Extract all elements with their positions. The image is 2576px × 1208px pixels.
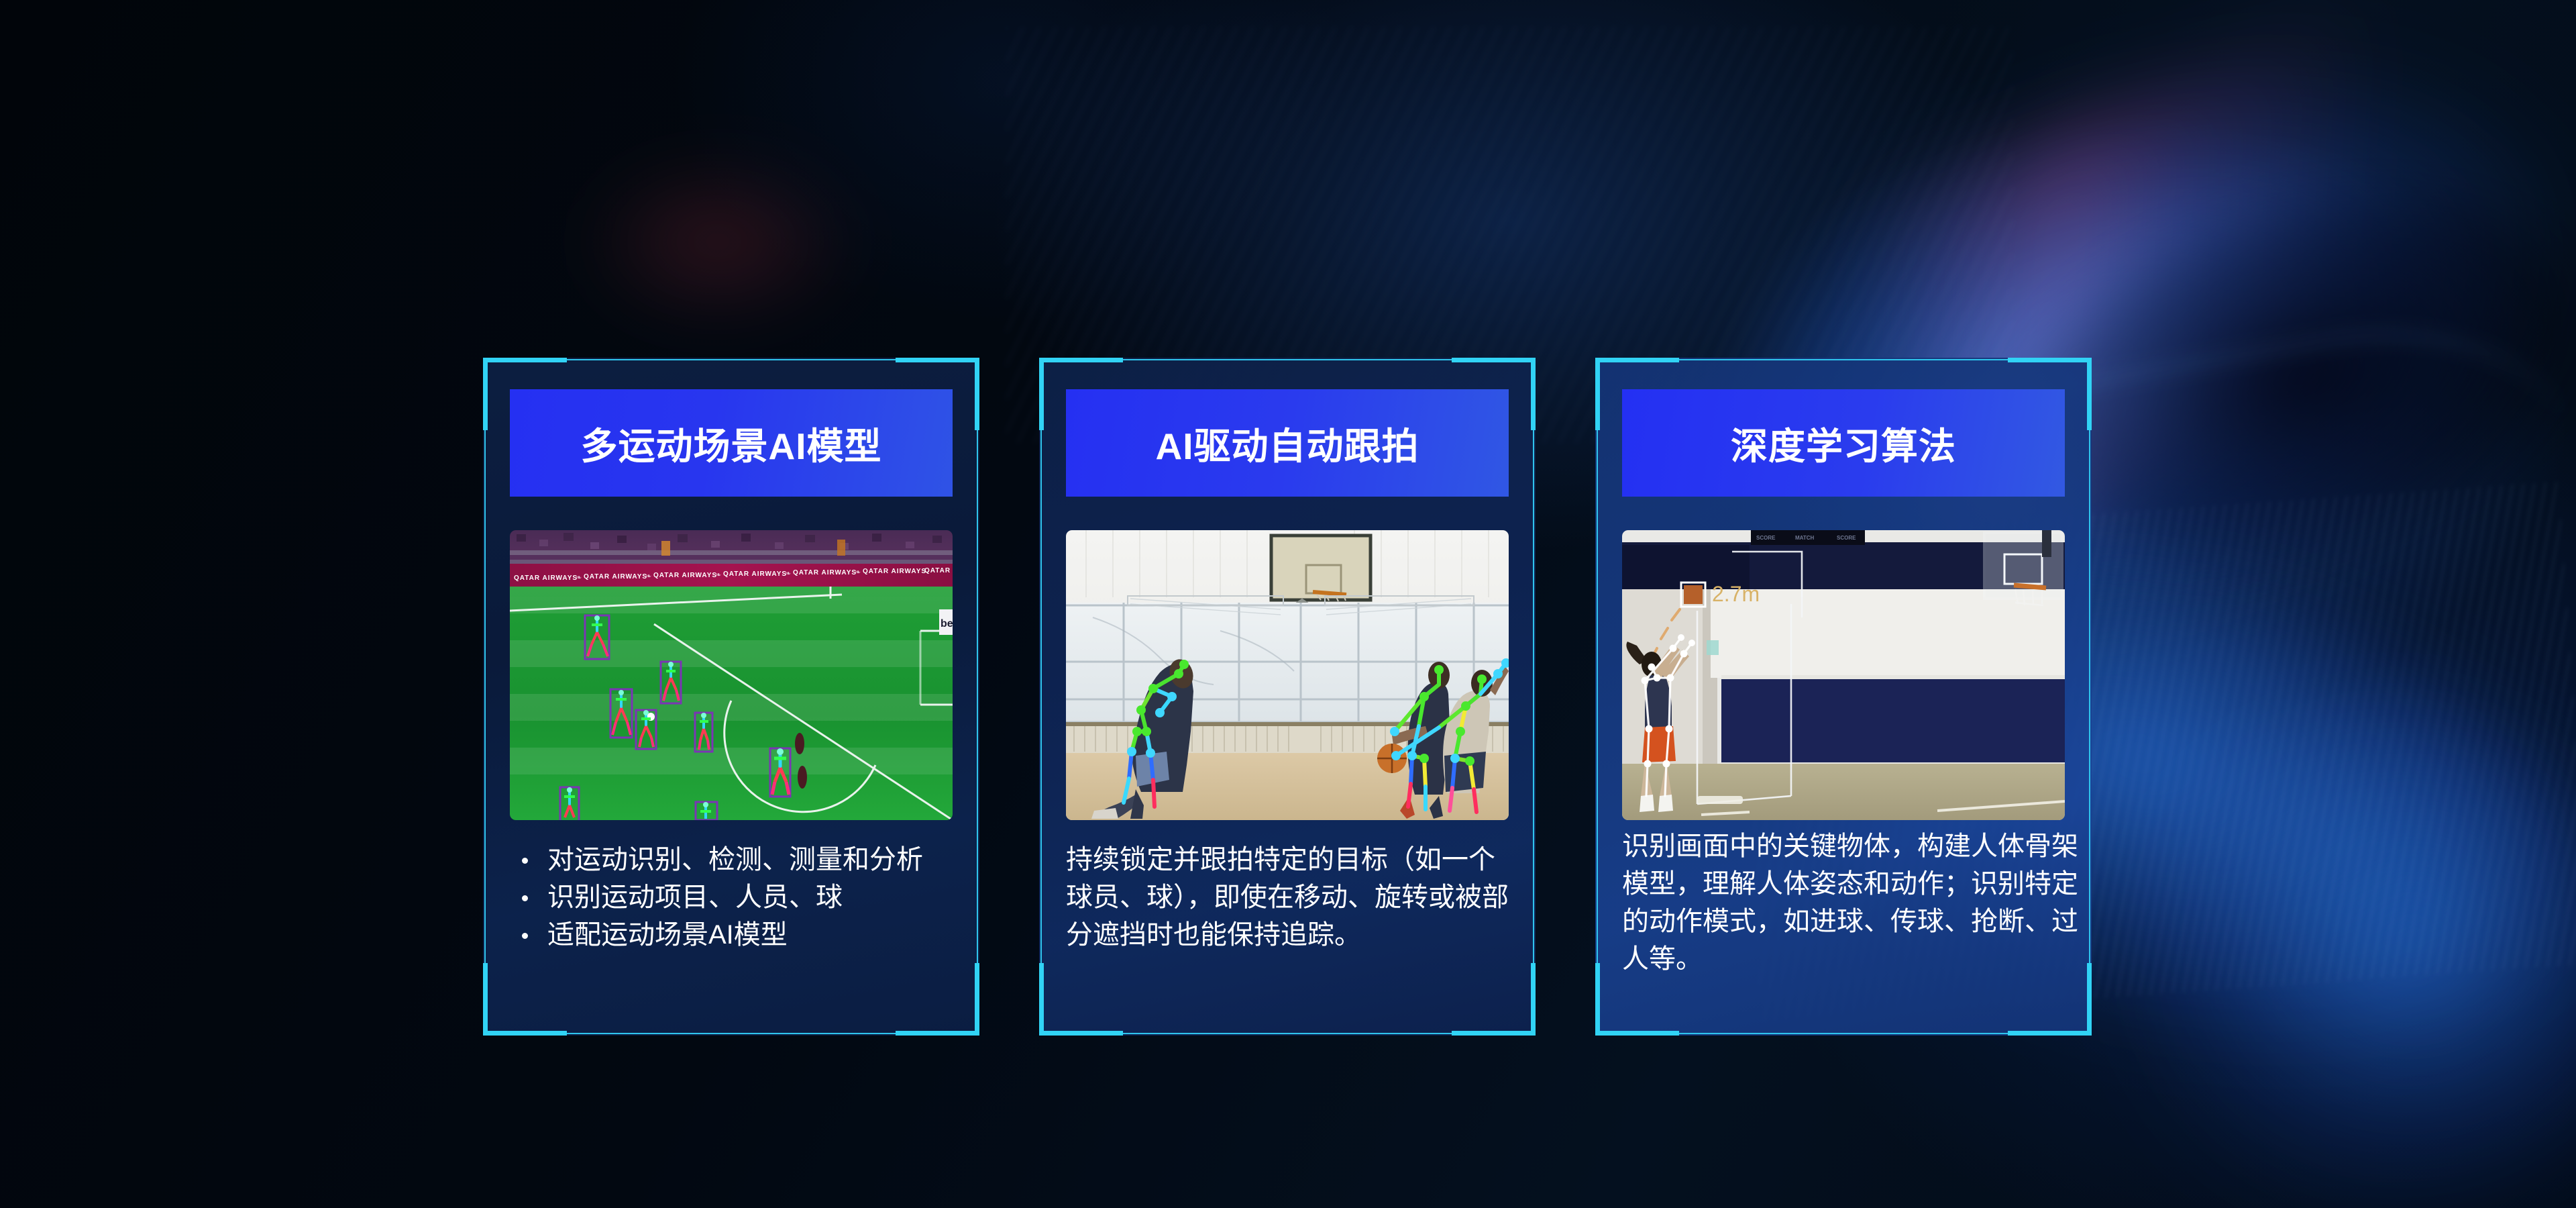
svg-text:QATAR AIRWAYS: QATAR AIRWAYS	[723, 570, 787, 578]
svg-text:QATAR AIRWAYS: QATAR AIRWAYS	[793, 569, 857, 576]
svg-text:MATCH: MATCH	[1795, 535, 1815, 541]
feature-bullet-list: 对运动识别、检测、测量和分析 识别运动项目、人员、球 适配运动场景AI模型	[510, 841, 958, 954]
svg-text:QATAR: QATAR	[924, 567, 951, 574]
svg-text:❧: ❧	[645, 572, 651, 581]
svg-text:❧: ❧	[855, 568, 861, 576]
card-header-banner: AI驱动自动跟拍	[1066, 389, 1509, 497]
feature-description: 识别画面中的关键物体，构建人体骨架模型，理解人体姿态和动作；识别特定的动作模式，…	[1622, 827, 2082, 978]
card-header-banner: 深度学习算法	[1622, 389, 2065, 497]
svg-text:QATAR AIRWAYS: QATAR AIRWAYS	[653, 572, 717, 579]
card-title: AI驱动自动跟拍	[1155, 416, 1419, 470]
feature-card-deep-learning-algorithm[interactable]: 深度学习算法 SCORE MATCH	[1595, 358, 2092, 1036]
basketball-gym-pose-thumbnail[interactable]	[1066, 530, 1509, 820]
card-title: 多运动场景AI模型	[580, 416, 881, 470]
card-title: 深度学习算法	[1731, 416, 1956, 470]
svg-text:QATAR AIRWAYS: QATAR AIRWAYS	[514, 574, 578, 582]
list-item: 适配运动场景AI模型	[510, 916, 958, 954]
card-body: 持续锁定并跟拍特定的目标（如一个球员、球），即使在移动、旋转或被部分遮挡时也能保…	[1066, 841, 1514, 954]
basketball-shot-measurement-thumbnail[interactable]: SCORE MATCH SCORE	[1622, 530, 2065, 820]
svg-text:❧: ❧	[715, 571, 721, 579]
list-item: 对运动识别、检测、测量和分析	[510, 841, 958, 878]
card-body: 识别画面中的关键物体，构建人体骨架模型，理解人体姿态和动作；识别特定的动作模式，…	[1622, 827, 2070, 978]
feature-card-ai-auto-tracking[interactable]: AI驱动自动跟拍	[1039, 358, 1536, 1036]
svg-text:❧: ❧	[785, 570, 791, 578]
svg-text:SCORE: SCORE	[1837, 535, 1856, 541]
feature-description: 持续锁定并跟拍特定的目标（如一个球员、球），即使在移动、旋转或被部分遮挡时也能保…	[1066, 841, 1521, 954]
svg-text:QATAR AIRWAYS: QATAR AIRWAYS	[863, 568, 926, 575]
svg-text:be: be	[941, 618, 953, 630]
feature-card-sports-ai-model[interactable]: 多运动场景AI模型	[483, 358, 979, 1036]
background-red-glow	[577, 154, 859, 329]
svg-text:QATAR AIRWAYS: QATAR AIRWAYS	[584, 573, 647, 581]
svg-text:SCORE: SCORE	[1756, 535, 1776, 541]
svg-text:❧: ❧	[576, 574, 582, 582]
list-item: 识别运动项目、人员、球	[510, 878, 958, 916]
soccer-field-detection-thumbnail[interactable]: QATAR AIRWAYS QATAR AIRWAYS QATAR AIRWAY…	[510, 530, 953, 820]
measurement-label-text: 2.7m	[1712, 582, 1760, 606]
card-header-banner: 多运动场景AI模型	[510, 389, 953, 497]
card-body: 对运动识别、检测、测量和分析 识别运动项目、人员、球 适配运动场景AI模型	[510, 841, 958, 954]
feature-card-grid: 多运动场景AI模型	[483, 358, 2093, 1036]
